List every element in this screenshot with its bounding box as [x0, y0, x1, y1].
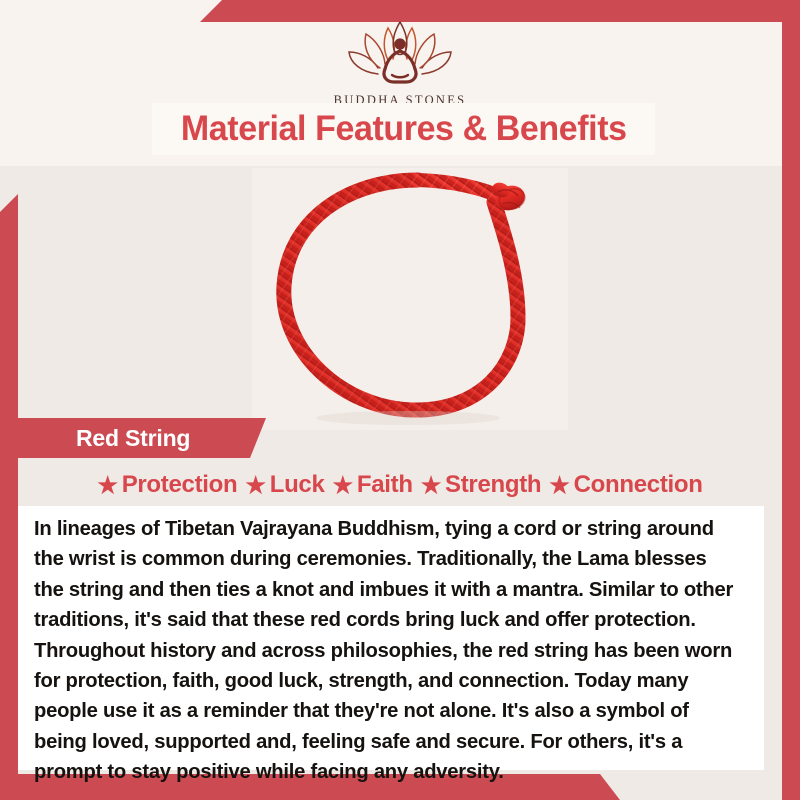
- benefit-label: Luck: [270, 471, 325, 499]
- star-icon: ★: [421, 474, 441, 497]
- description-body: In lineages of Tibetan Vajrayana Buddhis…: [34, 514, 737, 788]
- benefit-label: Protection: [122, 471, 238, 499]
- benefit-item: ★ Connection: [549, 471, 702, 499]
- lotus-meditation-icon: [342, 18, 458, 90]
- star-icon: ★: [549, 474, 569, 497]
- benefit-item: ★ Faith: [333, 471, 413, 499]
- star-icon: ★: [333, 474, 353, 497]
- material-label: Red String: [76, 425, 190, 452]
- material-label-ribbon: Red String: [18, 418, 266, 458]
- page-title: Material Features & Benefits: [181, 109, 627, 149]
- title-banner: Material Features & Benefits: [152, 103, 655, 155]
- benefits-list: ★ Protection ★ Luck ★ Faith ★ Strength ★…: [18, 464, 782, 506]
- benefit-item: ★ Protection: [97, 471, 237, 499]
- description-card: In lineages of Tibetan Vajrayana Buddhis…: [18, 506, 764, 770]
- star-icon: ★: [97, 474, 117, 497]
- benefit-item: ★ Strength: [421, 471, 542, 499]
- benefit-label: Strength: [445, 471, 541, 499]
- right-accent-band: [782, 0, 800, 800]
- benefit-label: Faith: [357, 471, 413, 499]
- brand-logo: BUDDHA STONES: [0, 18, 800, 108]
- product-image-red-cord-bracelet: [252, 168, 568, 430]
- benefit-label: Connection: [574, 471, 703, 499]
- star-icon: ★: [245, 474, 265, 497]
- infographic-page: BUDDHA STONES Material Features & Benefi…: [0, 0, 800, 800]
- benefit-item: ★ Luck: [245, 471, 324, 499]
